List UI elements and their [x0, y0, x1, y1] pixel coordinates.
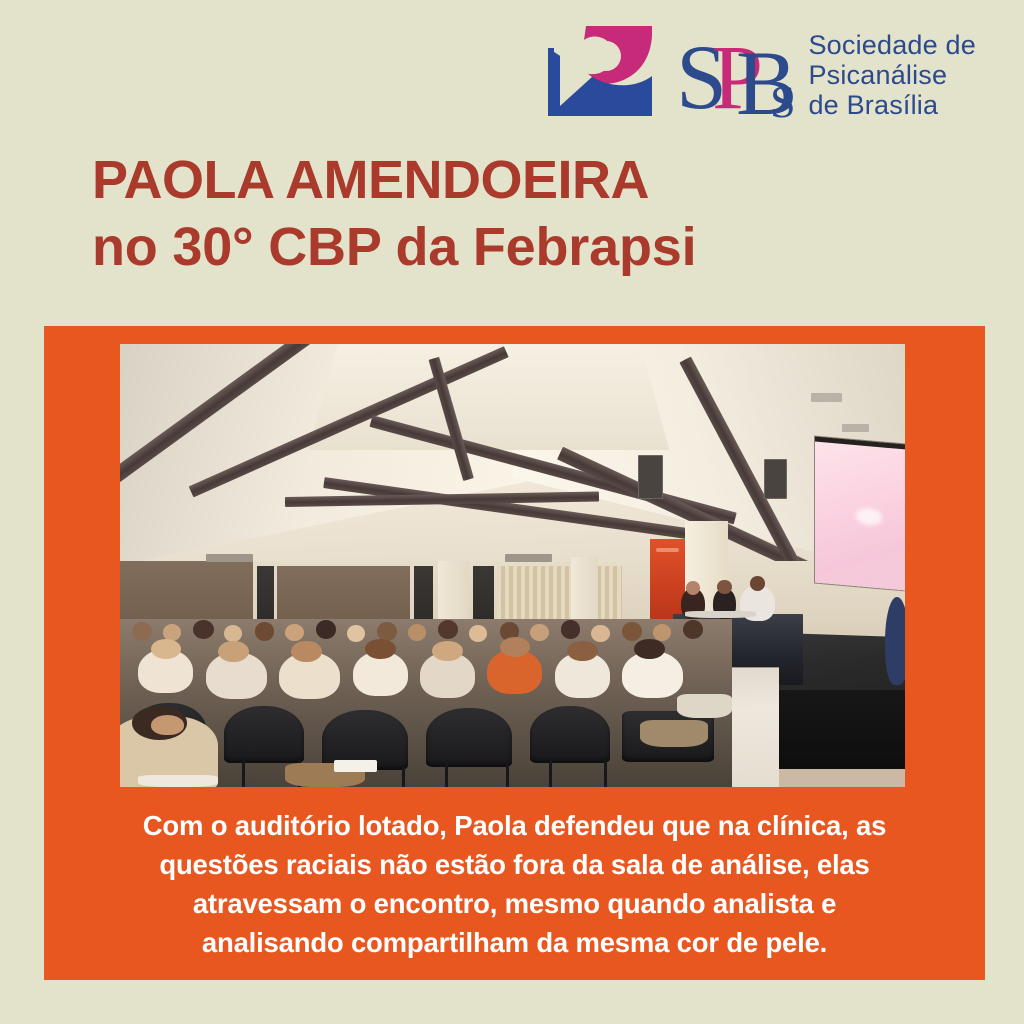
caption-line: analisando compartilham da mesma cor de … [80, 923, 949, 962]
audience-head [622, 622, 642, 641]
audience-head [653, 624, 671, 641]
audience-head [132, 622, 152, 641]
title-line-1: PAOLA AMENDOEIRA [92, 152, 696, 209]
audience-head [365, 639, 396, 659]
chair-leg [402, 767, 405, 787]
chair [530, 706, 610, 763]
ceiling-vent [842, 424, 869, 432]
chair [426, 708, 512, 767]
organization-name: Sociedade de Psicanálise de Brasília [808, 22, 976, 121]
audience-head [530, 624, 548, 641]
banner-stripe [656, 548, 679, 552]
audience-head [347, 625, 365, 642]
audience-head [561, 620, 581, 639]
logo-letter-sb: Sb [770, 76, 794, 122]
caption-line: atravessam o encontro, mesmo quando anal… [80, 884, 949, 923]
audience-head [316, 620, 336, 639]
panelist-head [717, 580, 731, 594]
audience-head [218, 641, 249, 663]
chair-leg [242, 760, 245, 787]
audience-head [255, 622, 275, 641]
chair [224, 706, 304, 763]
audience-head [151, 639, 182, 659]
audience-head [438, 620, 458, 639]
audience-head [432, 641, 463, 661]
wall-vent [206, 554, 253, 561]
photo-scene [120, 344, 905, 787]
audience-head [285, 624, 303, 641]
audience-face [151, 715, 185, 735]
notebook [138, 775, 218, 787]
page-title: PAOLA AMENDOEIRA no 30° CBP da Febrapsi [92, 152, 696, 278]
caption-line: questões raciais não estão fora da sala … [80, 845, 949, 884]
audience-head [567, 641, 598, 661]
auditorium-audience-photo [120, 344, 905, 787]
audience-head [377, 622, 397, 641]
tote-bag [677, 694, 732, 718]
projection-screen [815, 437, 905, 592]
ceiling-recess [638, 455, 663, 499]
caption-line: Com o auditório lotado, Paola defendeu q… [80, 806, 949, 845]
ceiling-recess [764, 459, 788, 499]
audience [120, 619, 732, 787]
panelist-head [686, 581, 700, 595]
ceiling-vent [811, 393, 842, 402]
content-card: Com o auditório lotado, Paola defendeu q… [44, 326, 985, 980]
table-items [685, 611, 756, 618]
spbsb-lettermark: S P B Sb [674, 22, 794, 122]
audience-head [193, 620, 214, 639]
handbag [640, 720, 707, 747]
chair-leg [506, 763, 509, 787]
audience-head [163, 624, 181, 641]
spbsb-logo-block: S P B Sb Sociedade de Psicanálise de Bra… [540, 22, 976, 122]
title-line-2: no 30° CBP da Febrapsi [92, 217, 696, 277]
paper-sheet [334, 760, 377, 772]
chair-leg [549, 760, 552, 787]
screen-glow [856, 508, 883, 527]
standing-attendee [885, 597, 905, 686]
audience-head [408, 624, 426, 641]
chair-leg [445, 763, 448, 787]
audience-head [634, 639, 665, 659]
audience-head [591, 625, 609, 642]
chair-leg [604, 760, 607, 787]
spbsb-eye-wave-logo-icon [540, 22, 660, 122]
wall-vent [505, 554, 552, 561]
audience-head [683, 620, 703, 639]
caption-text: Com o auditório lotado, Paola defendeu q… [44, 806, 985, 962]
